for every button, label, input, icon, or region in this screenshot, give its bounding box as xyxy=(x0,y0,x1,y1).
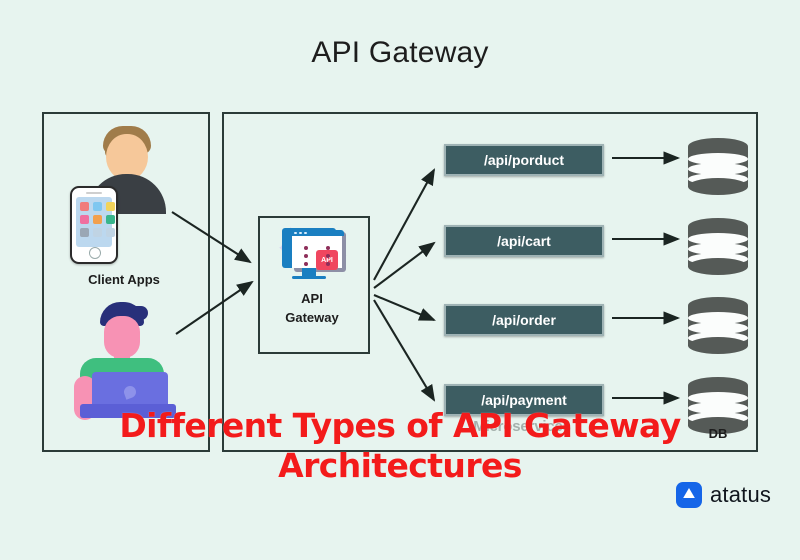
atatus-triangle-logo-icon xyxy=(676,482,702,508)
database-icon xyxy=(688,138,748,194)
api-gateway-label-line1: API xyxy=(258,290,366,309)
database-icon xyxy=(688,218,748,274)
api-chip-label: API xyxy=(316,250,338,270)
person-with-laptop-icon xyxy=(66,300,176,420)
atatus-logo: atatus xyxy=(676,482,771,508)
monitor-api-chip-icon: ✦ ✦ ✦ ✦ API xyxy=(274,226,350,288)
page-title: API Gateway xyxy=(0,36,800,70)
endpoint-box-order[interactable]: /api/order xyxy=(444,304,604,336)
endpoint-box-cart[interactable]: /api/cart xyxy=(444,225,604,257)
overlay-headline-line1: Different Types of API Gateway xyxy=(119,406,680,445)
overlay-headline: Different Types of API Gateway Architect… xyxy=(0,406,800,487)
smartphone-icon xyxy=(70,186,118,264)
database-icon xyxy=(688,297,748,353)
overlay-headline-line2: Architectures xyxy=(0,446,800,486)
atatus-wordmark: atatus xyxy=(710,482,771,508)
diagram-canvas: API Gateway Client Apps xyxy=(0,0,800,560)
client-apps-label: Client Apps xyxy=(42,272,206,287)
endpoint-box-product[interactable]: /api/porduct xyxy=(444,144,604,176)
api-gateway-label: API Gateway xyxy=(258,290,366,328)
api-gateway-label-line2: Gateway xyxy=(258,309,366,328)
